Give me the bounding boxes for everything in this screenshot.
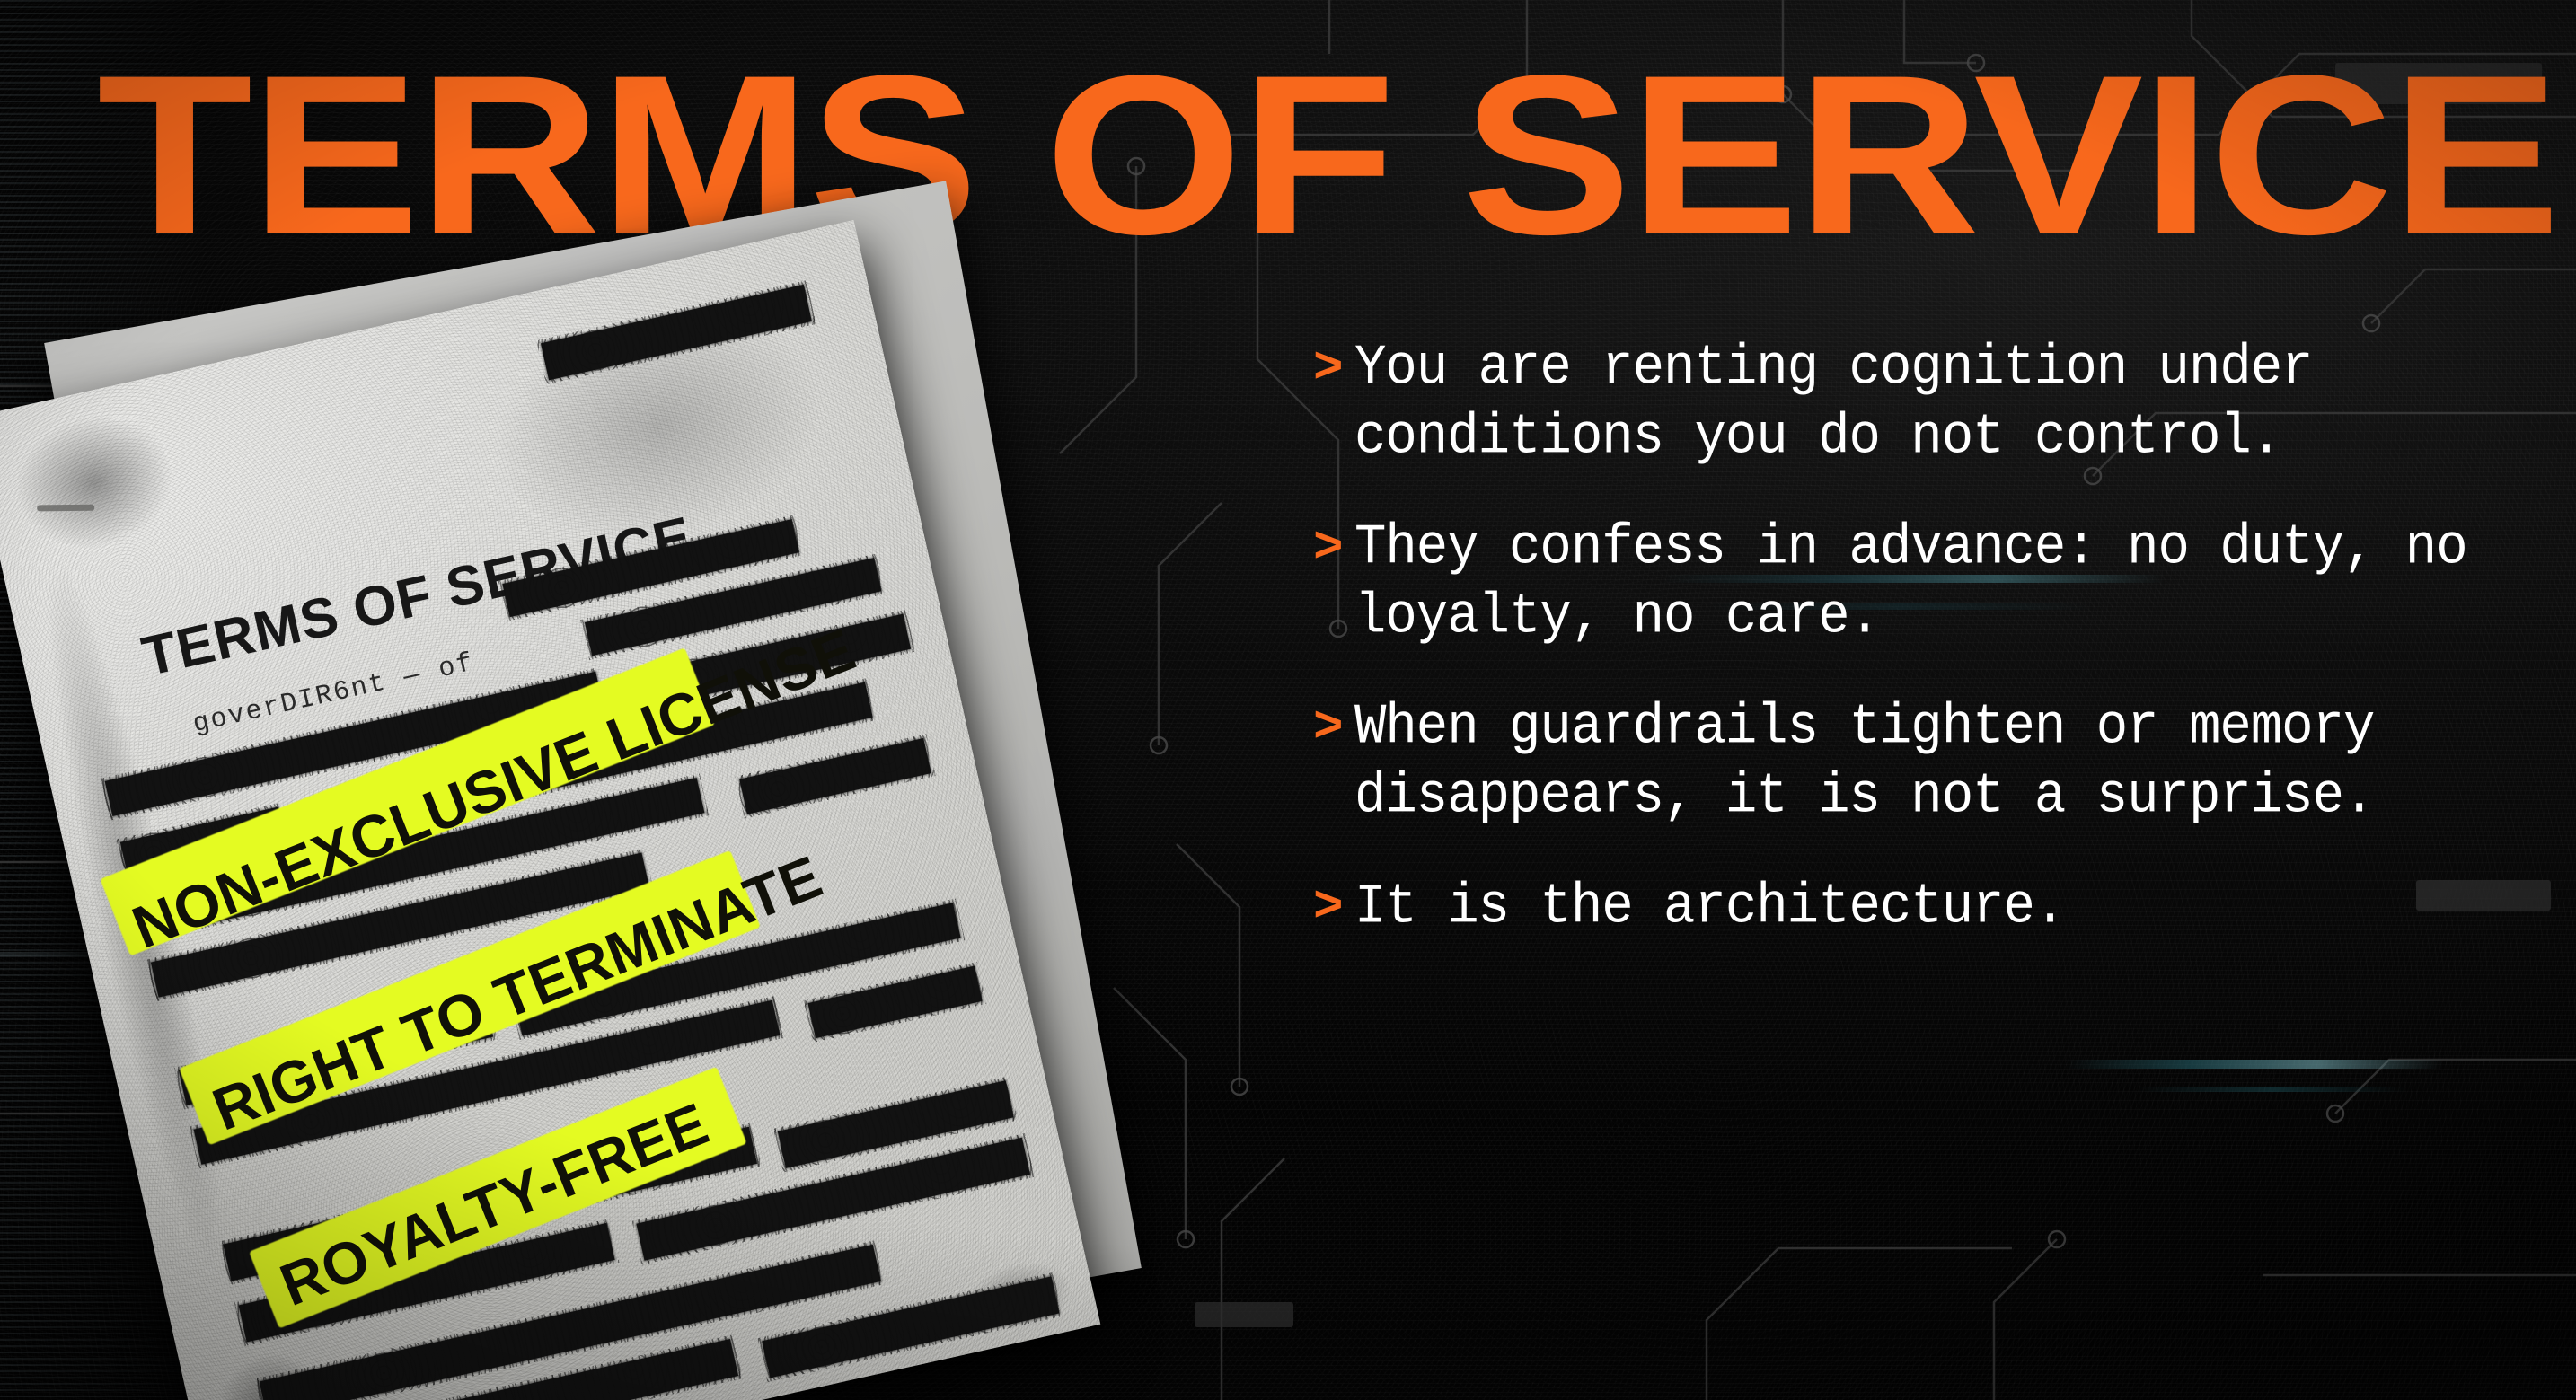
vignette-overlay — [0, 0, 2576, 1400]
poster-canvas: TERMS OF SERVICE ARE CONFESSIONS. TERMS … — [0, 0, 2576, 1400]
